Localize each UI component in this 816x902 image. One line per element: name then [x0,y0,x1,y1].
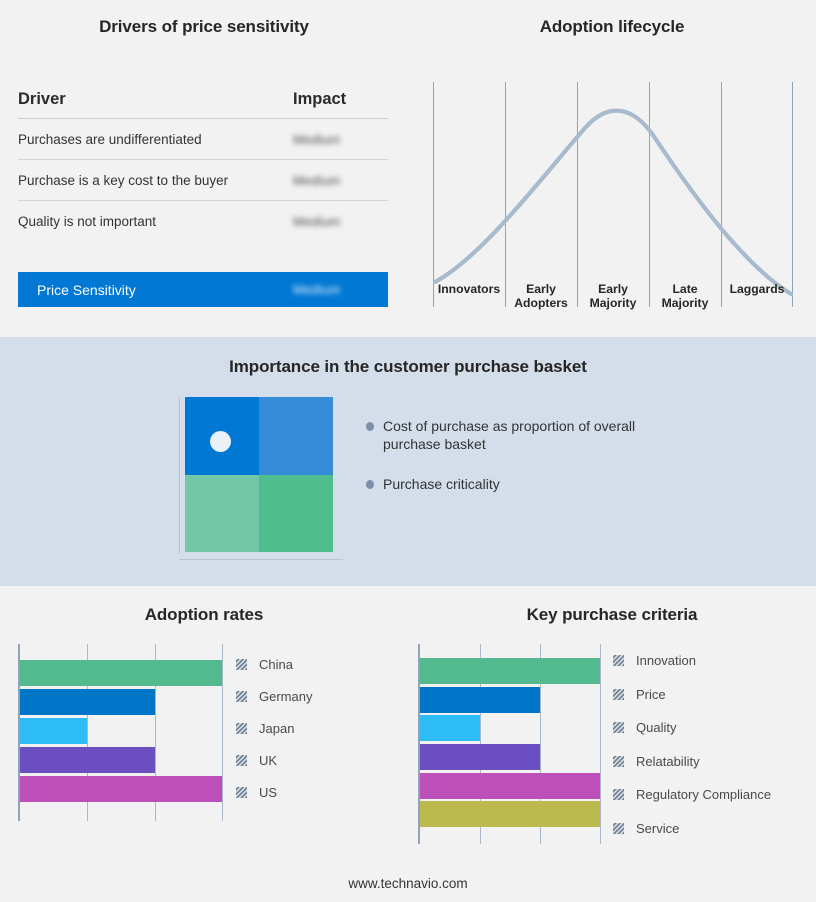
quadrant-bottom-left [185,475,259,553]
segment-line1: Early [577,282,649,296]
adoption-lifecycle-panel: Adoption lifecycle Innovators Early Adop… [408,0,816,337]
chart-gridline [222,644,223,821]
segment-line1: Early [505,282,577,296]
price-sensitivity-impact-text: Medium [293,282,340,297]
impact-value-text: Medium [293,173,340,188]
column-header-impact: Impact [293,90,388,109]
bar-germany [20,689,155,715]
impact-value: Medium [293,214,388,229]
drivers-title: Drivers of price sensitivity [0,17,408,37]
legend-item: UK [236,744,312,776]
position-marker-icon [210,431,231,452]
legend-item: Service [613,812,771,846]
chart-gridline [600,644,601,844]
drivers-table-header: Driver Impact [18,90,388,119]
matrix-x-axis [179,559,343,560]
legend-swatch-icon [613,689,624,700]
legend-item: China [236,648,312,680]
segment-line1: Late [649,282,721,296]
adoption-rates-chart [18,644,222,821]
segment-line2: Innovators [433,282,505,296]
legend-swatch-icon [236,787,247,798]
legend-label: China [259,657,293,672]
segment-line2: Majority [649,296,721,310]
legend-item: Cost of purchase as proportion of overal… [366,417,766,453]
bar-uk [20,747,155,773]
lifecycle-segment-innovators: Innovators [433,282,505,312]
driver-label: Purchases are undifferentiated [18,132,293,147]
segment-line2: Majority [577,296,649,310]
quadrant-top-right [259,397,333,475]
legend-item: Regulatory Compliance [613,778,771,812]
segment-line2: Laggards [721,282,793,296]
key-purchase-criteria-legend: InnovationPriceQualityRelatabilityRegula… [613,644,771,845]
price-sensitivity-summary-row: Price Sensitivity Medium [18,272,388,307]
legend-swatch-icon [613,789,624,800]
footer-url: www.technavio.com [0,876,816,891]
bullet-icon [366,480,374,489]
legend-swatch-icon [613,722,624,733]
price-sensitivity-label: Price Sensitivity [37,282,293,298]
legend-label: Cost of purchase as proportion of overal… [383,417,653,453]
adoption-lifecycle-title: Adoption lifecycle [408,17,816,37]
bar-price [420,687,540,713]
bar-us [20,776,222,802]
purchase-basket-panel: Importance in the customer purchase bask… [0,337,816,586]
legend-item: Innovation [613,644,771,678]
matrix-y-axis [179,397,180,554]
legend-label: Regulatory Compliance [636,787,771,802]
bar-service [420,801,600,827]
key-purchase-criteria-chart [418,644,600,844]
bar-relatability [420,744,540,770]
impact-value: Medium [293,132,388,147]
lifecycle-segment-labels: Innovators Early Adopters Early Majority… [433,282,793,312]
impact-value-text: Medium [293,132,340,147]
bar-japan [20,718,87,744]
legend-swatch-icon [236,691,247,702]
purchase-basket-legend: Cost of purchase as proportion of overal… [366,417,766,515]
key-purchase-criteria-title: Key purchase criteria [408,605,816,625]
purchase-basket-title: Importance in the customer purchase bask… [0,357,816,377]
legend-item: Purchase criticality [366,475,766,493]
adoption-rates-legend: ChinaGermanyJapanUKUS [236,648,312,808]
lifecycle-segment-early-adopters: Early Adopters [505,282,577,312]
adoption-rates-title: Adoption rates [0,605,408,625]
adoption-lifecycle-chart: Innovators Early Adopters Early Majority… [433,80,793,312]
legend-swatch-icon [613,655,624,666]
drivers-table: Driver Impact Purchases are undifferenti… [18,90,388,242]
legend-item: US [236,776,312,808]
driver-label: Quality is not important [18,214,293,229]
legend-label: Relatability [636,754,700,769]
legend-item: Japan [236,712,312,744]
legend-label: Quality [636,720,676,735]
bar-china [20,660,222,686]
legend-swatch-icon [613,823,624,834]
legend-swatch-icon [613,756,624,767]
legend-item: Germany [236,680,312,712]
impact-value-text: Medium [293,214,340,229]
table-row: Purchase is a key cost to the buyer Medi… [18,160,388,201]
segment-line2: Adopters [505,296,577,310]
quadrant-top-left [185,397,259,475]
bell-curve-icon [433,80,793,312]
legend-label: US [259,785,277,800]
legend-item: Relatability [613,745,771,779]
bar-innovation [420,658,600,684]
bar-regulatory-compliance [420,773,600,799]
table-row: Quality is not important Medium [18,201,388,242]
legend-label: Purchase criticality [383,475,500,493]
legend-label: Germany [259,689,312,704]
bullet-icon [366,422,374,431]
legend-label: UK [259,753,277,768]
legend-label: Japan [259,721,294,736]
legend-swatch-icon [236,659,247,670]
key-purchase-criteria-panel: Key purchase criteria InnovationPriceQua… [408,586,816,902]
lifecycle-segment-laggards: Laggards [721,282,793,312]
legend-swatch-icon [236,723,247,734]
legend-item: Price [613,678,771,712]
legend-label: Innovation [636,653,696,668]
impact-value: Medium [293,173,388,188]
lifecycle-segment-early-majority: Early Majority [577,282,649,312]
legend-item: Quality [613,711,771,745]
legend-label: Price [636,687,666,702]
infographic-page: Drivers of price sensitivity Driver Impa… [0,0,816,902]
legend-label: Service [636,821,679,836]
quadrant-bottom-right [259,475,333,553]
purchase-basket-matrix [178,397,338,565]
adoption-rates-panel: Adoption rates ChinaGermanyJapanUKUS [0,586,408,902]
lifecycle-segment-late-majority: Late Majority [649,282,721,312]
driver-label: Purchase is a key cost to the buyer [18,173,293,188]
quadrant-grid [185,397,333,552]
price-sensitivity-impact: Medium [293,281,388,299]
bar-quality [420,715,480,741]
legend-swatch-icon [236,755,247,766]
column-header-driver: Driver [18,90,293,109]
table-row: Purchases are undifferentiated Medium [18,119,388,160]
drivers-panel: Drivers of price sensitivity Driver Impa… [0,0,408,337]
